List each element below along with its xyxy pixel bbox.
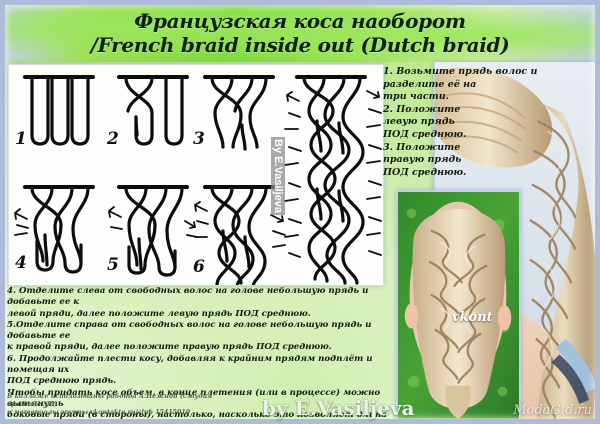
step-line: ПОД среднюю.: [383, 167, 511, 180]
panel-number-4: 4: [15, 253, 27, 273]
panel-number-2: 2: [107, 129, 119, 149]
steps-1-3-block: 1. Возьмите прядь волос и разделите её н…: [383, 66, 511, 179]
title-english: /French braid inside out (Dutch braid): [91, 33, 510, 57]
step-line: 6. Продолжайте плести косу, добавляя к к…: [7, 354, 387, 377]
step-line: 4. Отделите слева от свободных волос на …: [7, 286, 387, 309]
panel-number-5: 5: [107, 255, 119, 275]
step-line: правую прядь: [383, 154, 511, 167]
photo-back-braid: [396, 190, 521, 424]
credits-line: В коллаже использованы работы А.Нежной (…: [7, 393, 237, 409]
step-line: 2. Положите: [383, 104, 511, 117]
panel-1-art: [25, 77, 93, 144]
braid-diagram-card: 1 2 3 4 5 6 By E.Vasiljeva: [8, 64, 384, 286]
poster-header: Французская коса наоборот /French braid …: [5, 4, 595, 62]
panel-number-3: 3: [193, 129, 205, 149]
credits-block: В коллаже использованы работы А.Нежной (…: [7, 393, 237, 418]
panel-2-art: [119, 77, 187, 144]
watermark-site: ModaGid.ru: [513, 403, 592, 418]
step-line: к правой пряди, далее положите правую пр…: [7, 342, 387, 353]
watermark-vertical: By E.Vasiljeva: [271, 137, 285, 215]
step-line: ПОД среднюю.: [383, 129, 511, 142]
panel-number-1: 1: [15, 129, 27, 149]
panel-4-art: [25, 187, 93, 272]
step-line: левой пряди, далее положите левую прядь …: [7, 309, 387, 320]
step-line: 5.Отделите справа от свободных волос на …: [7, 320, 387, 343]
credits-line: и материалы группы vkontakte.ru/club 154…: [7, 409, 237, 417]
step-line: ПОД среднюю прядь.: [7, 376, 387, 387]
step-line: три части.: [383, 91, 511, 104]
step-line: 3. Положите: [383, 142, 511, 155]
braid-diagram-svg: [9, 65, 383, 285]
photo-back-braid-art: [398, 192, 519, 419]
panel-4-add-ticks: [15, 209, 28, 235]
panel-5-art: [119, 187, 187, 275]
author-signature: by E.Vasiljeva: [262, 396, 414, 420]
poster-root: Французская коса наоборот /French braid …: [0, 0, 600, 424]
panel-6-art: [205, 187, 273, 285]
finished-braid-art: [297, 77, 365, 283]
step-line: 1. Возьмите прядь волос и разделите её н…: [383, 66, 593, 91]
title-russian: Французская коса наоборот: [134, 10, 465, 32]
panel-3-art: [205, 77, 273, 149]
watermark-photo: vkont: [452, 310, 493, 325]
panel-number-6: 6: [193, 257, 205, 277]
step-line: левую прядь: [383, 116, 511, 129]
